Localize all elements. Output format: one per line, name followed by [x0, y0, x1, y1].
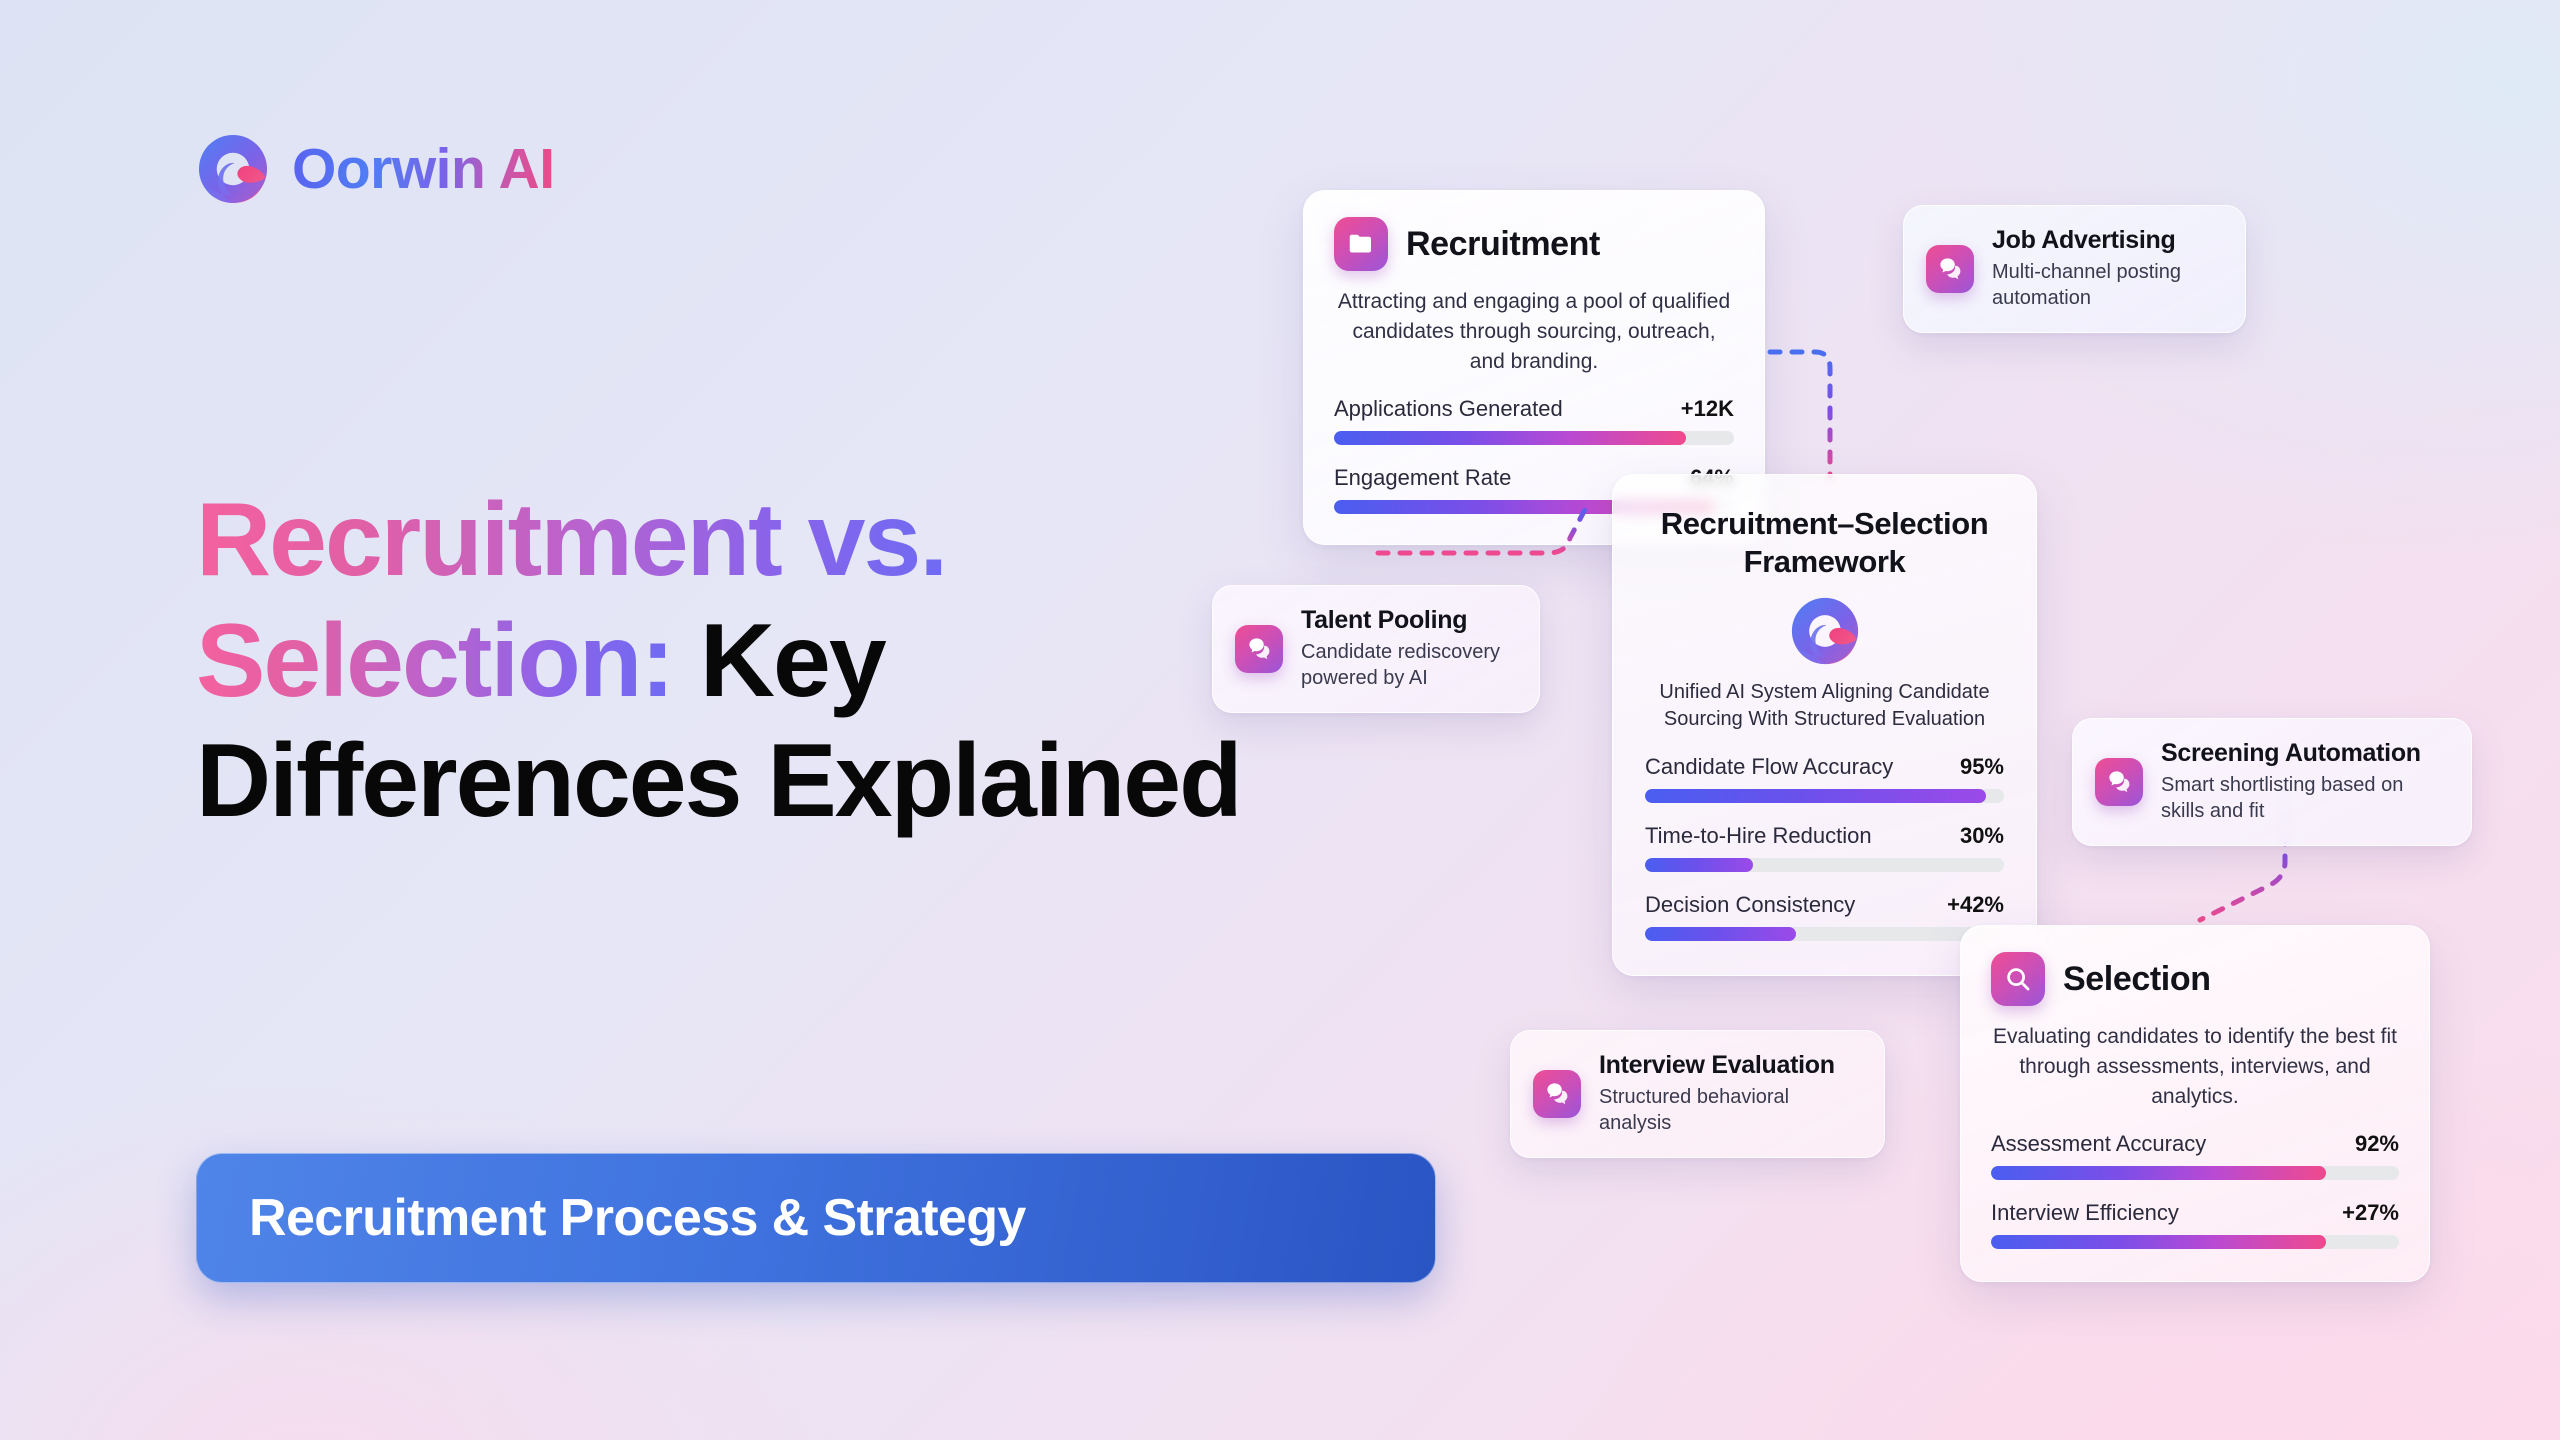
recruitment-title: Recruitment — [1406, 225, 1600, 264]
badge-text: Job Advertising Multi-channel posting au… — [1992, 226, 2219, 312]
badge-title: Interview Evaluation — [1599, 1051, 1858, 1080]
metric-label: Decision Consistency — [1645, 892, 1855, 918]
badge-text: Talent Pooling Candidate rediscovery pow… — [1301, 606, 1513, 692]
badge-subtitle: Candidate rediscovery powered by AI — [1301, 639, 1513, 692]
badge-text: Interview Evaluation Structured behavior… — [1599, 1051, 1858, 1137]
metric-value: 92% — [2355, 1131, 2399, 1157]
selection-card[interactable]: Selection Evaluating candidates to ident… — [1960, 925, 2430, 1282]
metric-label: Time-to-Hire Reduction — [1645, 823, 1872, 849]
framework-description: Unified AI System Aligning Candidate Sou… — [1645, 679, 2004, 734]
headline-line3: Differences Explained — [196, 723, 1241, 839]
poster-canvas: Oorwin AI Recruitment vs. Selection: Key… — [0, 0, 2560, 1440]
metric-value: 95% — [1960, 754, 2004, 780]
framework-card[interactable]: Recruitment–Selection Framework Unified … — [1612, 474, 2037, 976]
metric-value: +42% — [1947, 892, 2004, 918]
cta-label: Recruitment Process & Strategy — [249, 1188, 1026, 1248]
metric-row: Time-to-Hire Reduction 30% — [1645, 823, 2004, 849]
progress-bar — [1645, 927, 2004, 941]
progress-fill — [1991, 1235, 2326, 1249]
metric-row: Assessment Accuracy 92% — [1991, 1131, 2399, 1157]
chat-bubbles-icon — [2095, 758, 2143, 806]
oorwin-swirl-logo-icon — [1789, 595, 1861, 667]
metric-value: 30% — [1960, 823, 2004, 849]
cta-button[interactable]: Recruitment Process & Strategy — [196, 1153, 1436, 1283]
metric-row: Applications Generated +12K — [1334, 396, 1734, 422]
brand-name: Oorwin AI — [292, 136, 555, 202]
folder-icon — [1334, 217, 1388, 271]
metric-label: Applications Generated — [1334, 396, 1563, 422]
chat-bubbles-icon — [1533, 1070, 1581, 1118]
progress-fill — [1334, 431, 1686, 445]
framework-title: Recruitment–Selection Framework — [1645, 505, 2004, 581]
progress-bar — [1645, 858, 2004, 872]
metric-row: Candidate Flow Accuracy 95% — [1645, 754, 2004, 780]
selection-card-header: Selection — [1991, 952, 2399, 1006]
metric-value: +27% — [2342, 1200, 2399, 1226]
recruitment-description: Attracting and engaging a pool of qualif… — [1334, 287, 1734, 376]
badge-text: Screening Automation Smart shortlisting … — [2161, 739, 2445, 825]
badge-title: Talent Pooling — [1301, 606, 1513, 635]
progress-bar — [1991, 1235, 2399, 1249]
progress-fill — [1645, 858, 1753, 872]
recruitment-card-header: Recruitment — [1334, 217, 1734, 271]
headline-line2-gradient: Selection: — [196, 603, 673, 719]
framework-logo — [1645, 595, 2004, 667]
badge-job-advertising[interactable]: Job Advertising Multi-channel posting au… — [1903, 205, 2246, 333]
magnifier-icon — [1991, 952, 2045, 1006]
chat-bubbles-icon — [1235, 625, 1283, 673]
selection-description: Evaluating candidates to identify the be… — [1991, 1022, 2399, 1111]
badge-interview-evaluation[interactable]: Interview Evaluation Structured behavior… — [1510, 1030, 1885, 1158]
progress-bar — [1991, 1166, 2399, 1180]
headline-line2-plain: Key — [700, 603, 885, 719]
metric-label: Engagement Rate — [1334, 465, 1511, 491]
selection-title: Selection — [2063, 960, 2211, 999]
progress-bar — [1645, 789, 2004, 803]
badge-subtitle: Multi-channel posting automation — [1992, 259, 2219, 312]
progress-fill — [1645, 927, 1796, 941]
progress-fill — [1991, 1166, 2326, 1180]
badge-title: Job Advertising — [1992, 226, 2219, 255]
metric-label: Candidate Flow Accuracy — [1645, 754, 1893, 780]
metric-row: Interview Efficiency +27% — [1991, 1200, 2399, 1226]
progress-fill — [1645, 789, 1986, 803]
badge-talent-pooling[interactable]: Talent Pooling Candidate rediscovery pow… — [1212, 585, 1540, 713]
metric-row: Decision Consistency +42% — [1645, 892, 2004, 918]
badge-subtitle: Structured behavioral analysis — [1599, 1084, 1858, 1137]
chat-bubbles-icon — [1926, 245, 1974, 293]
metric-value: +12K — [1681, 396, 1734, 422]
oorwin-swirl-logo-icon — [196, 132, 270, 206]
brand-logo: Oorwin AI — [196, 132, 555, 206]
badge-subtitle: Smart shortlisting based on skills and f… — [2161, 772, 2445, 825]
badge-screening-automation[interactable]: Screening Automation Smart shortlisting … — [2072, 718, 2472, 846]
headline-line1: Recruitment vs. — [196, 482, 946, 598]
metric-label: Assessment Accuracy — [1991, 1131, 2206, 1157]
progress-bar — [1334, 431, 1734, 445]
metric-label: Interview Efficiency — [1991, 1200, 2179, 1226]
badge-title: Screening Automation — [2161, 739, 2445, 768]
